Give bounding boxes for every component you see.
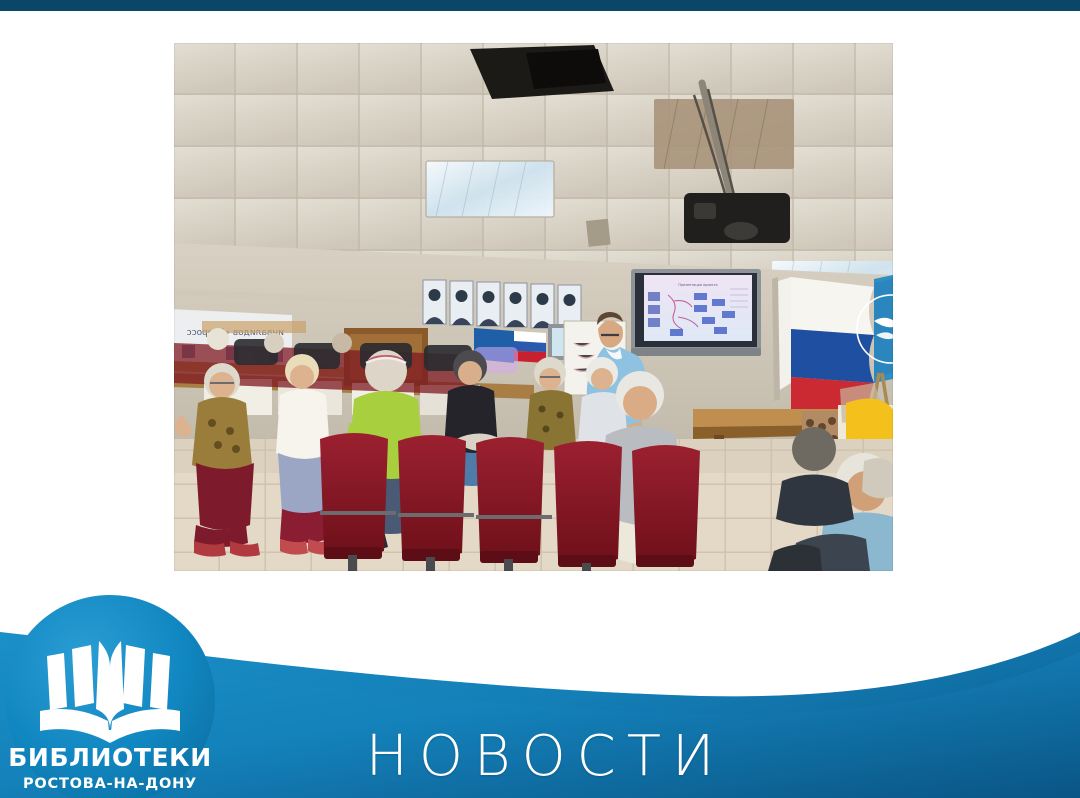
photo-illustration: инвалидов «Всеросс — [174, 43, 893, 571]
theatre-chairs — [320, 433, 700, 571]
page-title: НОВОСТИ — [0, 726, 1080, 788]
slide-canvas: инвалидов «Всеросс — [0, 0, 1080, 798]
presentation-screen: Презентация проекта — [631, 269, 761, 356]
top-accent-bar — [0, 0, 1080, 11]
news-photo: инвалидов «Всеросс — [174, 43, 893, 571]
svg-text:Презентация проекта: Презентация проекта — [678, 283, 717, 287]
